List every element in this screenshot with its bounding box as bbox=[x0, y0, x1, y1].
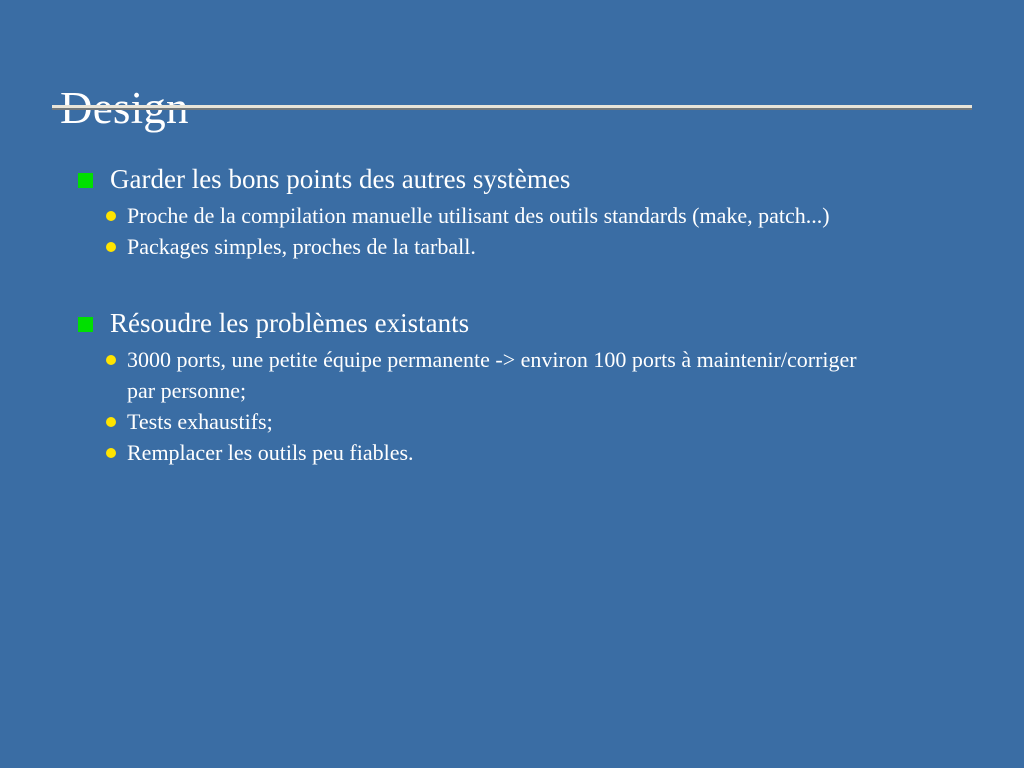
yellow-dot-bullet-icon bbox=[106, 417, 116, 427]
level2-bullet-item: Packages simples, proches de la tarball. bbox=[0, 231, 1024, 262]
yellow-dot-bullet-icon bbox=[106, 448, 116, 458]
level2-bullet-item: Proche de la compilation manuelle utilis… bbox=[0, 200, 1024, 231]
level2-bullet-item: Remplacer les outils peu fiables. bbox=[0, 437, 1024, 468]
level2-bullet-list: 3000 ports, une petite équipe permanente… bbox=[0, 344, 1024, 468]
yellow-dot-bullet-icon bbox=[106, 242, 116, 252]
level2-bullet-text: Remplacer les outils peu fiables. bbox=[127, 437, 867, 468]
yellow-dot-bullet-icon bbox=[106, 355, 116, 365]
level2-bullet-text: Proche de la compilation manuelle utilis… bbox=[127, 200, 867, 231]
level1-bullet-item: Garder les bons points des autres systèm… bbox=[0, 160, 1024, 198]
level2-bullet-item: Tests exhaustifs; bbox=[0, 406, 1024, 437]
bullet-group: Garder les bons points des autres systèm… bbox=[0, 160, 1024, 262]
level2-bullet-list: Proche de la compilation manuelle utilis… bbox=[0, 200, 1024, 262]
title-divider bbox=[52, 105, 972, 110]
yellow-dot-bullet-icon bbox=[106, 211, 116, 221]
level1-bullet-item: Résoudre les problèmes existants bbox=[0, 304, 1024, 342]
bullet-group: Résoudre les problèmes existants 3000 po… bbox=[0, 304, 1024, 468]
level2-bullet-text: Tests exhaustifs; bbox=[127, 406, 867, 437]
slide-body: Garder les bons points des autres systèm… bbox=[0, 160, 1024, 468]
level2-bullet-item: 3000 ports, une petite équipe permanente… bbox=[0, 344, 1024, 406]
green-square-bullet-icon bbox=[78, 173, 93, 188]
presentation-slide: Design Garder les bons points des autres… bbox=[0, 0, 1024, 768]
level1-bullet-text: Garder les bons points des autres systèm… bbox=[110, 160, 1024, 198]
title-divider-shadow bbox=[52, 108, 972, 110]
level2-bullet-text: Packages simples, proches de la tarball. bbox=[127, 231, 867, 262]
level1-bullet-text: Résoudre les problèmes existants bbox=[110, 304, 1024, 342]
green-square-bullet-icon bbox=[78, 317, 93, 332]
level2-bullet-text: 3000 ports, une petite équipe permanente… bbox=[127, 344, 867, 406]
